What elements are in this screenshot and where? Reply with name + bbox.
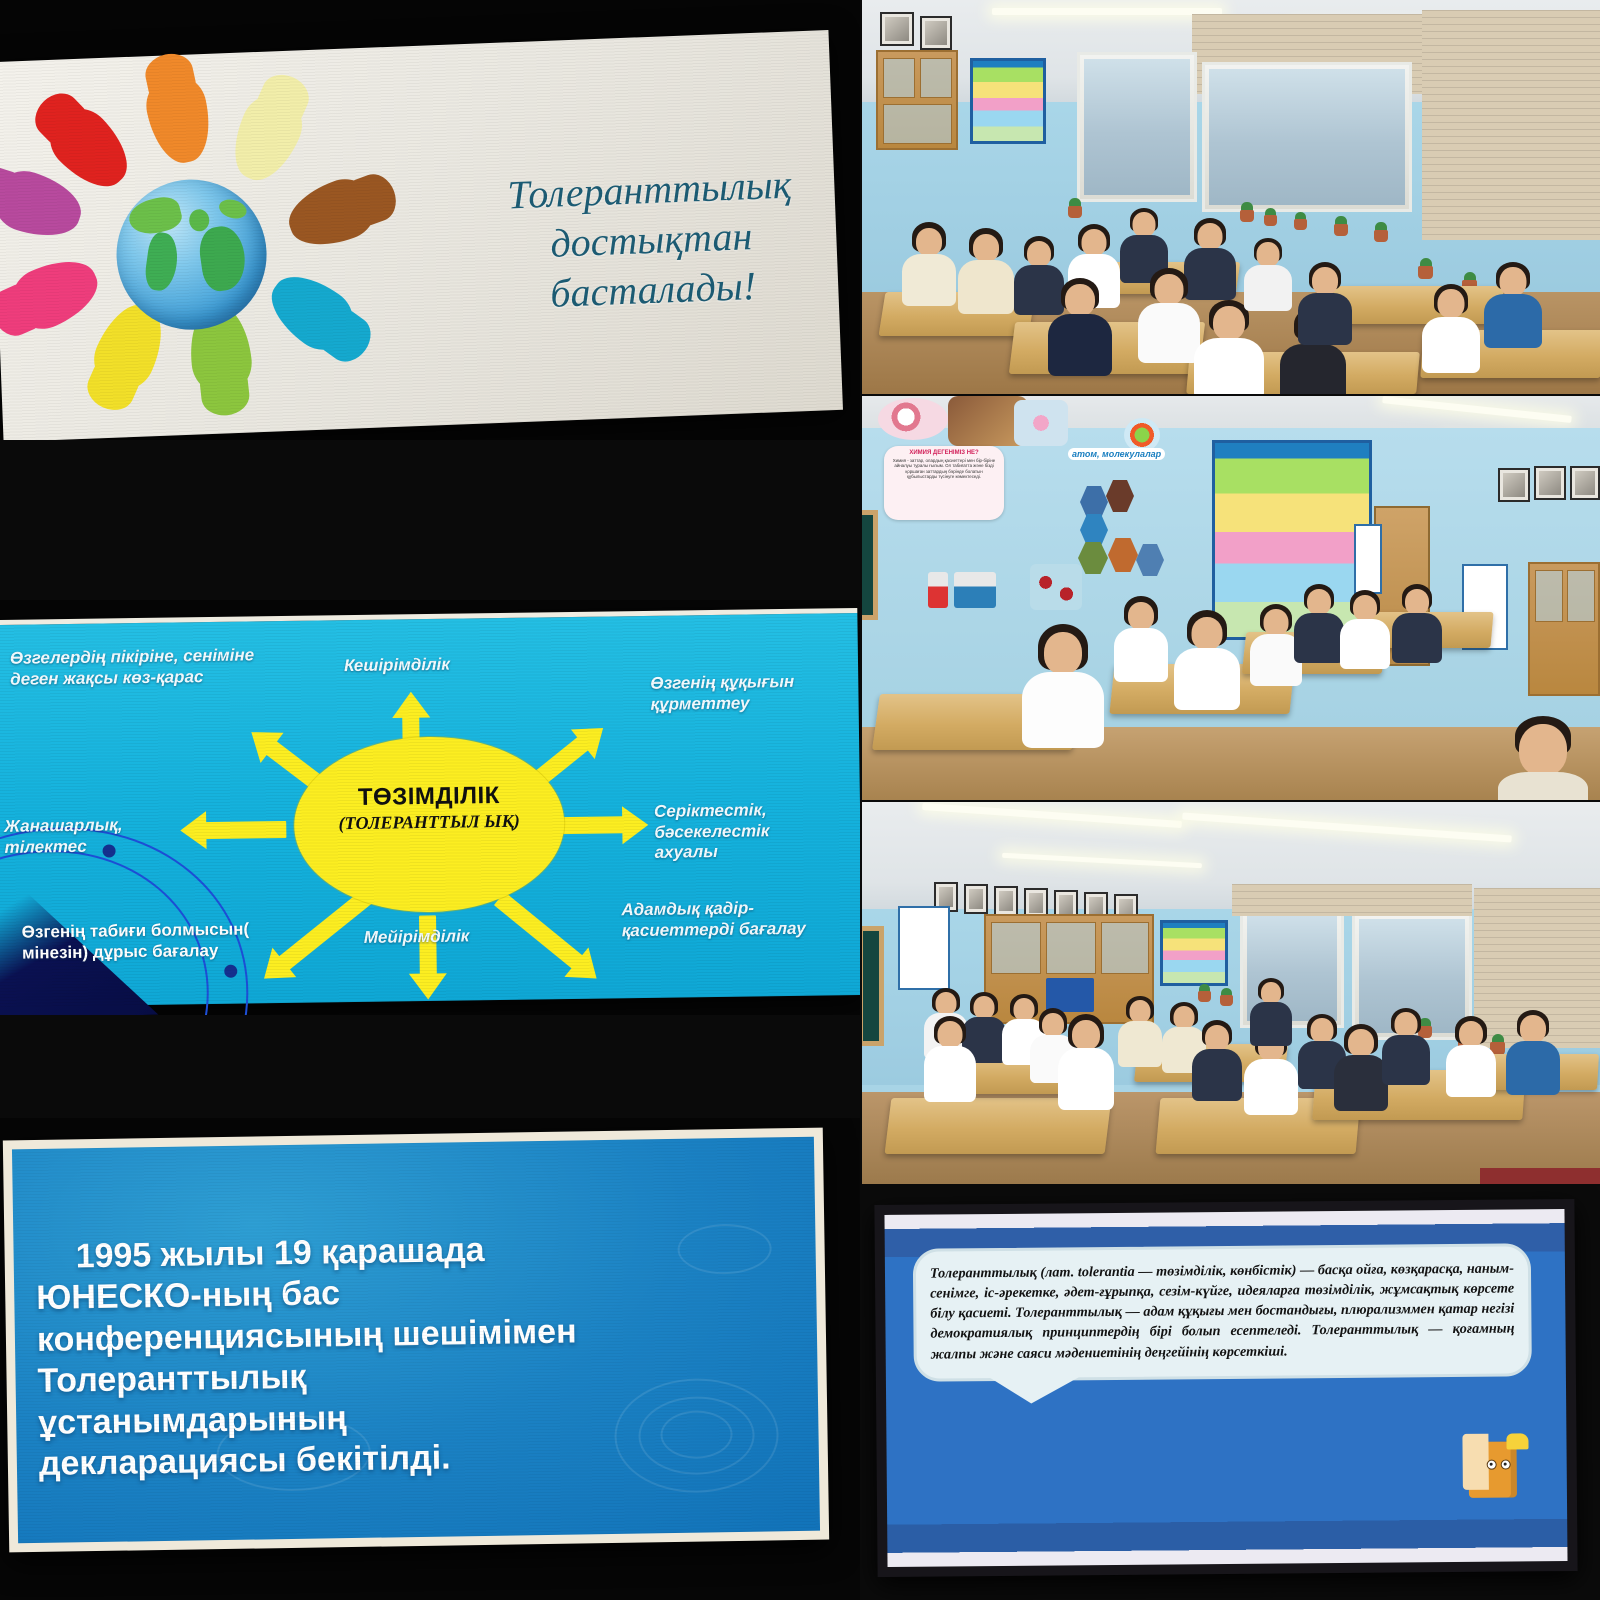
projection-screen: Толеранттылық достықтан басталады!	[0, 30, 843, 440]
student	[1058, 1014, 1114, 1106]
potted-plant	[1374, 222, 1388, 242]
slide-title-text: Толеранттылық достықтан басталады!	[449, 157, 854, 322]
student	[902, 222, 956, 302]
orbit-line-2	[0, 775, 297, 1015]
display-cabinet	[876, 50, 958, 150]
unesco-text-block: 1995 жылы 19 қарашада ЮНЕСКО-ның бас кон…	[35, 1225, 803, 1486]
wall-info-poster	[1354, 524, 1382, 594]
definition-screen: Толеранттылық (лат. tolerantia — төзімді…	[884, 1209, 1567, 1567]
wall-picture	[880, 12, 914, 46]
classroom-scene-3	[862, 802, 1600, 1184]
student	[1340, 590, 1390, 666]
screen-frame: 1995 жылы 19 қарашада ЮНЕСКО-ның бас кон…	[3, 1128, 829, 1553]
orbit-dot-2	[224, 965, 237, 978]
center-ellipse: ТӨЗІМДІЛІК (ТОЛЕРАНТТЫЛ ЫҚ)	[293, 735, 565, 914]
red-hand-icon	[39, 98, 142, 201]
hands-around-globe-illustration	[10, 76, 422, 421]
student	[1138, 268, 1200, 360]
chemistry-poster: ХИМИЯ ДЕГЕНІМІЗ НЕ? Химия - заттар, олар…	[884, 446, 1004, 520]
potted-plant	[1418, 258, 1433, 279]
potted-plant	[1198, 984, 1211, 1002]
student	[1446, 1016, 1496, 1094]
student	[1244, 238, 1292, 308]
student	[1422, 284, 1480, 370]
student	[1298, 262, 1352, 342]
test-tubes-sticker-icon	[954, 572, 996, 608]
window	[1077, 52, 1197, 202]
title-line-3: басталады!	[452, 257, 854, 322]
cyan-hand-icon	[258, 262, 363, 361]
unesco-slide-photo: 1995 жылы 19 қарашада ЮНЕСКО-ның бас кон…	[0, 1118, 860, 1600]
yellow-hand-icon	[85, 295, 175, 398]
potted-plant	[1264, 208, 1277, 226]
wall-info-poster	[898, 906, 950, 990]
classroom-photo-3	[862, 802, 1600, 1184]
periodic-table-poster	[970, 58, 1046, 144]
potted-plant	[1240, 202, 1254, 222]
wall-picture	[920, 16, 952, 50]
definition-text: Толеранттылық (лат. tolerantia — төзімді…	[930, 1258, 1515, 1364]
classroom-photo-2: ХИМИЯ ДЕГЕНІМІЗ НЕ? Химия - заттар, олар…	[862, 396, 1600, 800]
green-hand-icon	[186, 303, 255, 395]
student-foreground	[1498, 716, 1588, 800]
pink-hand-icon	[4, 248, 107, 338]
title-line-1: Толеранттылық	[449, 157, 851, 222]
center-subtitle: (ТОЛЕРАНТТЫЛ ЫҚ)	[328, 812, 530, 834]
definition-slide-photo: Толеранттылық (лат. tolerantia — төзімді…	[862, 1186, 1600, 1600]
scientist-portrait	[994, 886, 1018, 916]
student	[958, 228, 1014, 310]
chalkboard-edge	[862, 510, 878, 620]
diagram-label-top: Кешірімділік	[344, 653, 544, 677]
classroom-photo-1	[862, 0, 1600, 394]
arrow-left	[202, 821, 286, 839]
title-slide-photo: Толеранттылық достықтан басталады! FUJIT…	[0, 0, 860, 440]
brown-hand-icon	[280, 171, 381, 257]
chemistry-poster-body: Химия - заттар, олардың қасиеттері мен б…	[890, 458, 998, 480]
student	[1334, 1024, 1388, 1108]
unesco-screen: 1995 жылы 19 қарашада ЮНЕСКО-ның бас кон…	[12, 1137, 820, 1544]
student	[1114, 596, 1168, 680]
student	[924, 1016, 976, 1098]
potted-plant	[1068, 198, 1082, 218]
diagram-label-left: Жанашарлық, тілектес	[4, 814, 185, 858]
student	[1022, 624, 1104, 744]
student	[1194, 300, 1264, 394]
title-line-2: достықтан	[451, 207, 853, 272]
diagram-label-right: Серіктестік, бәсекелестік ахуалы	[654, 799, 835, 864]
student	[1118, 996, 1162, 1064]
center-title: ТӨЗІМДІЛІК	[294, 781, 564, 813]
globe-icon	[114, 177, 270, 333]
potted-plant	[1334, 216, 1348, 236]
classroom-scene-2: ХИМИЯ ДЕГЕНІМІЗ НЕ? Химия - заттар, олар…	[862, 396, 1600, 800]
arrow-right	[560, 816, 626, 834]
student	[1192, 1020, 1242, 1098]
chalkboard-edge	[862, 926, 884, 1046]
student	[1506, 1010, 1560, 1092]
student	[1250, 978, 1292, 1042]
diagram-label-bottom: Мейірімділік	[364, 925, 544, 948]
window	[1202, 62, 1412, 212]
wall-portrait	[1498, 468, 1530, 502]
diagram-label-top-right: Өзгенің құқығын құрметтеу	[650, 671, 841, 715]
student	[1484, 262, 1542, 346]
potted-plant	[1220, 988, 1233, 1006]
scientist-portrait	[964, 884, 988, 914]
potted-plant	[1294, 212, 1307, 230]
molecule-sticker-icon	[1124, 418, 1160, 452]
floor-strip	[1480, 1168, 1600, 1184]
wall-portrait	[1534, 466, 1566, 500]
diagram-screen: ТӨЗІМДІЛІК (ТОЛЕРАНТТЫЛ ЫҚ) Өзгелердің п…	[0, 608, 860, 1007]
diagram-slide-photo: ТӨЗІМДІЛІК (ТОЛЕРАНТТЫЛ ЫҚ) Өзгелердің п…	[0, 600, 860, 1015]
student	[1174, 610, 1240, 708]
window-blind	[1232, 884, 1472, 916]
periodic-table-poster	[1160, 920, 1228, 986]
photo-collage: Толеранттылық достықтан басталады! FUJIT…	[0, 0, 1600, 1600]
student	[1382, 1008, 1430, 1082]
diagram-label-top-left: Өзгелердің пікіріне, сеніміне деген жақс…	[10, 645, 261, 690]
student	[1294, 584, 1344, 660]
purple-hand-icon	[0, 164, 89, 247]
pale-yellow-hand-icon	[221, 87, 311, 190]
book-character-mascot-icon	[1462, 1433, 1525, 1500]
atom-molecule-label: атом, молекулалар	[1068, 448, 1165, 460]
window-blind	[1422, 10, 1600, 240]
monitor-frame: Толеранттылық (лат. tolerantia — төзімді…	[874, 1199, 1577, 1577]
ceiling-lamp	[992, 8, 1222, 15]
display-cabinet	[1528, 562, 1600, 696]
chemistry-poster-title: ХИМИЯ ДЕГЕНІМІЗ НЕ?	[890, 450, 998, 457]
molecule-sticker-icon	[1014, 400, 1068, 446]
classroom-scene-1	[862, 0, 1600, 394]
diagram-label-bottom-left: Өзгенің табиғи болмысын( мінезін) дұрыс …	[22, 919, 273, 964]
student	[1392, 584, 1442, 660]
speech-bubble: Толеранттылық (лат. tolerantia — төзімді…	[913, 1243, 1532, 1381]
arrow-bottom-left	[276, 890, 372, 972]
atom-sticker-icon	[878, 398, 948, 440]
diagram-label-bottom-right: Адамдық қадір-қасиеттерді бағалау	[621, 898, 822, 942]
orange-hand-icon	[141, 72, 218, 169]
flask-sticker-icon	[928, 572, 948, 608]
wall-portrait	[1570, 466, 1600, 500]
student	[1048, 278, 1112, 374]
molecule-sticker-icon	[1030, 564, 1082, 610]
